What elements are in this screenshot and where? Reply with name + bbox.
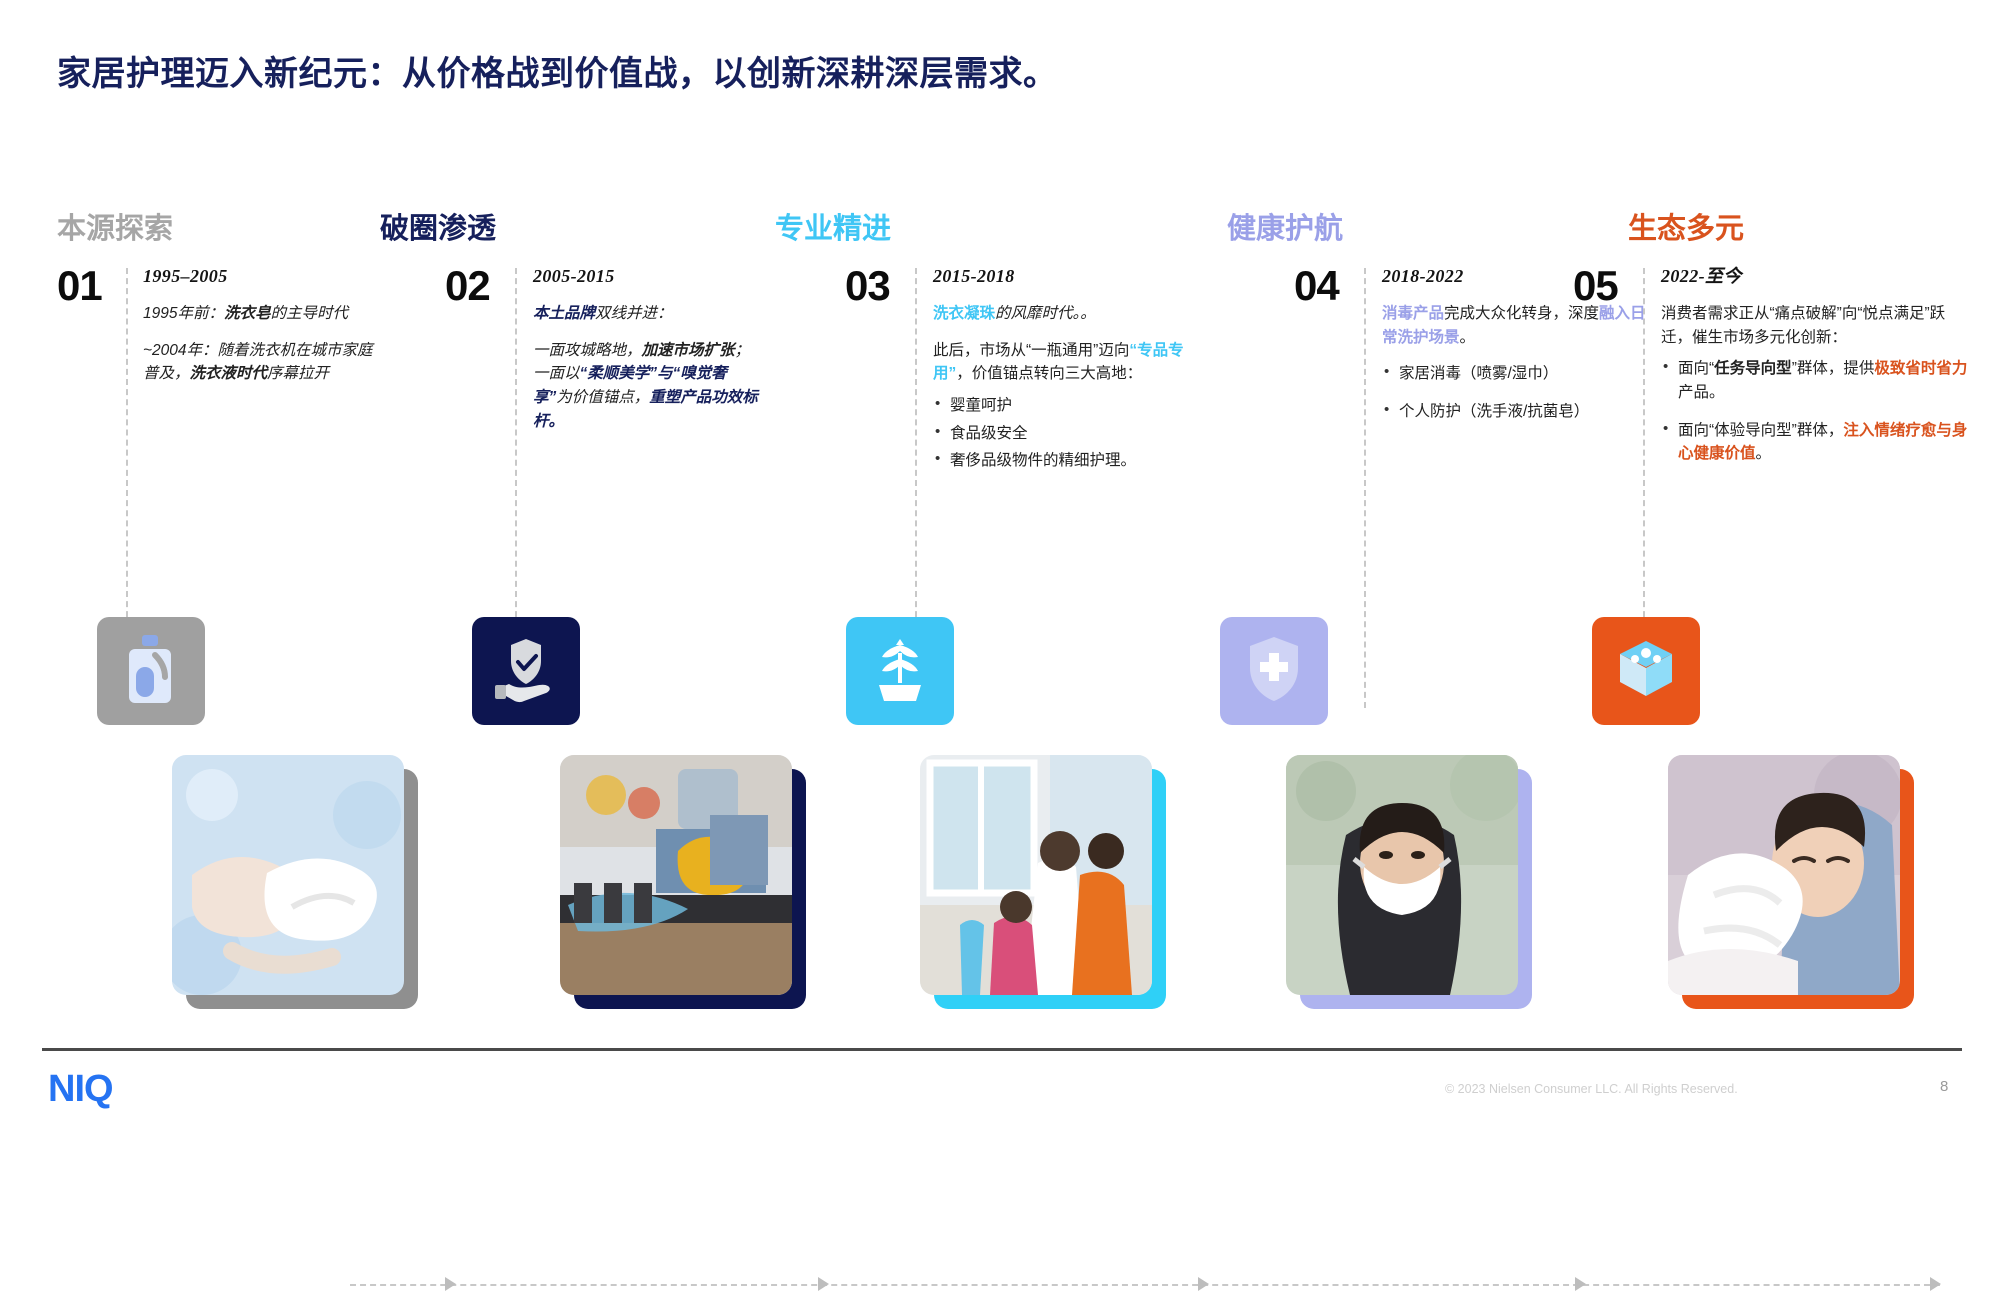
list-item: 面向“体验导向型”群体，注入情绪疗愈与身心健康价值。 <box>1661 419 1971 466</box>
phase-title-2: 破圈渗透 <box>380 205 496 247</box>
medical-shield-icon <box>1245 634 1303 709</box>
copyright-text: © 2023 Nielsen Consumer LLC. All Rights … <box>1445 1082 1738 1096</box>
photo-card-4 <box>1286 755 1518 995</box>
phase-number-5: 05 <box>1573 262 1618 310</box>
hands-washing-cloth-photo <box>172 755 404 995</box>
list-item: 婴童呵护 <box>933 394 1208 418</box>
phase-era-3: 2015-2018 <box>933 263 1208 290</box>
detergent-bottle-icon <box>125 633 177 710</box>
phase-body-5: 2022-至今 消费者需求正从“痛点破解”向“悦点满足”跃迁，催生市场多元化创新… <box>1661 263 1971 470</box>
timeline-tile-1[interactable] <box>97 617 205 725</box>
timeline-tile-5[interactable] <box>1592 617 1700 725</box>
phase-body-3: 2015-2018 洗衣凝珠的风靡时代。。 此后，市场从“一瓶通用”迈向“专品专… <box>933 263 1208 477</box>
photo-card-3 <box>920 755 1152 995</box>
woman-face-mask-photo <box>1286 755 1518 995</box>
phase-para-5-1: 消费者需求正从“痛点破解”向“悦点满足”跃迁，催生市场多元化创新： <box>1661 302 1971 349</box>
phase-bullets-3: 婴童呵护 食品级安全 奢侈品级物件的精细护理。 <box>933 394 1208 473</box>
niq-logo: NIQ <box>48 1068 113 1111</box>
phase-era-1: 1995–2005 <box>143 263 388 290</box>
phase-title-4: 健康护航 <box>1227 205 1343 247</box>
phase-era-5: 2022-至今 <box>1661 263 1971 290</box>
phase-title-3: 专业精进 <box>775 205 891 247</box>
phase-bullets-4: 家居消毒（喷雾/湿巾） 个人防护（洗手液/抗菌皂） <box>1382 362 1652 423</box>
phase-title-5: 生态多元 <box>1628 205 1744 247</box>
phase-para-1-1: 1995年前：洗衣皂的主导时代 <box>143 302 388 326</box>
phase-title-1: 本源探索 <box>57 205 173 247</box>
family-window-cleaning-photo <box>920 755 1152 995</box>
timeline-arrow-icon <box>1930 1277 1941 1291</box>
list-item: 家居消毒（喷雾/湿巾） <box>1382 362 1652 386</box>
list-item: 食品级安全 <box>933 422 1208 446</box>
phase-para-3-2: 此后，市场从“一瓶通用”迈向“专品专用”，价值锚点转向三大高地： <box>933 339 1208 386</box>
phase-para-2-2: 一面攻城略地，加速市场扩张；一面以“柔顺美学”与“嗅觉奢享”为价值锚点，重塑产品… <box>533 339 763 433</box>
woman-smelling-towel-photo <box>1668 755 1900 995</box>
page-title: 家居护理迈入新纪元：从价格战到价值战，以创新深耕深层需求。 <box>57 46 1058 95</box>
phase-number-2: 02 <box>445 262 490 310</box>
phase-body-1: 1995–2005 1995年前：洗衣皂的主导时代 ~2004年：随着洗衣机在城… <box>143 263 388 399</box>
phase-number-4: 04 <box>1294 262 1339 310</box>
photo-card-1 <box>172 755 404 995</box>
timeline-arrow-icon <box>818 1277 829 1291</box>
timeline-tile-4[interactable] <box>1220 617 1328 725</box>
photo-card-2 <box>560 755 792 995</box>
phase-para-3-1: 洗衣凝珠的风靡时代。。 <box>933 302 1208 326</box>
slide-root: 家居护理迈入新纪元：从价格战到价值战，以创新深耕深层需求。 本源探索 01 19… <box>0 0 2000 1125</box>
footer-divider <box>42 1048 1962 1051</box>
page-number: 8 <box>1940 1078 1948 1095</box>
phase-number-1: 01 <box>57 262 102 310</box>
phase-number-3: 03 <box>845 262 890 310</box>
timeline-tile-3[interactable] <box>846 617 954 725</box>
timeline-arrow-icon <box>445 1277 456 1291</box>
timeline-arrow-icon <box>1198 1277 1209 1291</box>
list-item: 面向“任务导向型”群体，提供极致省时省力产品。 <box>1661 357 1971 404</box>
phase-para-1-2: ~2004年：随着洗衣机在城市家庭普及，洗衣液时代序幕拉开 <box>143 339 388 386</box>
phase-para-2-1: 本土品牌双线并进： <box>533 302 763 326</box>
plant-growth-icon <box>869 633 931 710</box>
list-item: 个人防护（洗手液/抗菌皂） <box>1382 400 1652 424</box>
timeline-axis-row <box>0 617 2000 727</box>
cleaning-gloves-photo <box>560 755 792 995</box>
phase-bullets-5: 面向“任务导向型”群体，提供极致省时省力产品。 面向“体验导向型”群体，注入情绪… <box>1661 357 1971 465</box>
phase-body-2: 2005-2015 本土品牌双线并进： 一面攻城略地，加速市场扩张；一面以“柔顺… <box>533 263 763 446</box>
timeline-dashed-axis <box>350 1284 1940 1286</box>
timeline-tile-2[interactable] <box>472 617 580 725</box>
list-item: 奢侈品级物件的精细护理。 <box>933 449 1208 473</box>
gift-box-icon <box>1613 637 1679 706</box>
shield-in-hand-icon <box>493 635 559 708</box>
photo-card-5 <box>1668 755 1900 995</box>
phase-era-2: 2005-2015 <box>533 263 763 290</box>
timeline-arrow-icon <box>1575 1277 1586 1291</box>
